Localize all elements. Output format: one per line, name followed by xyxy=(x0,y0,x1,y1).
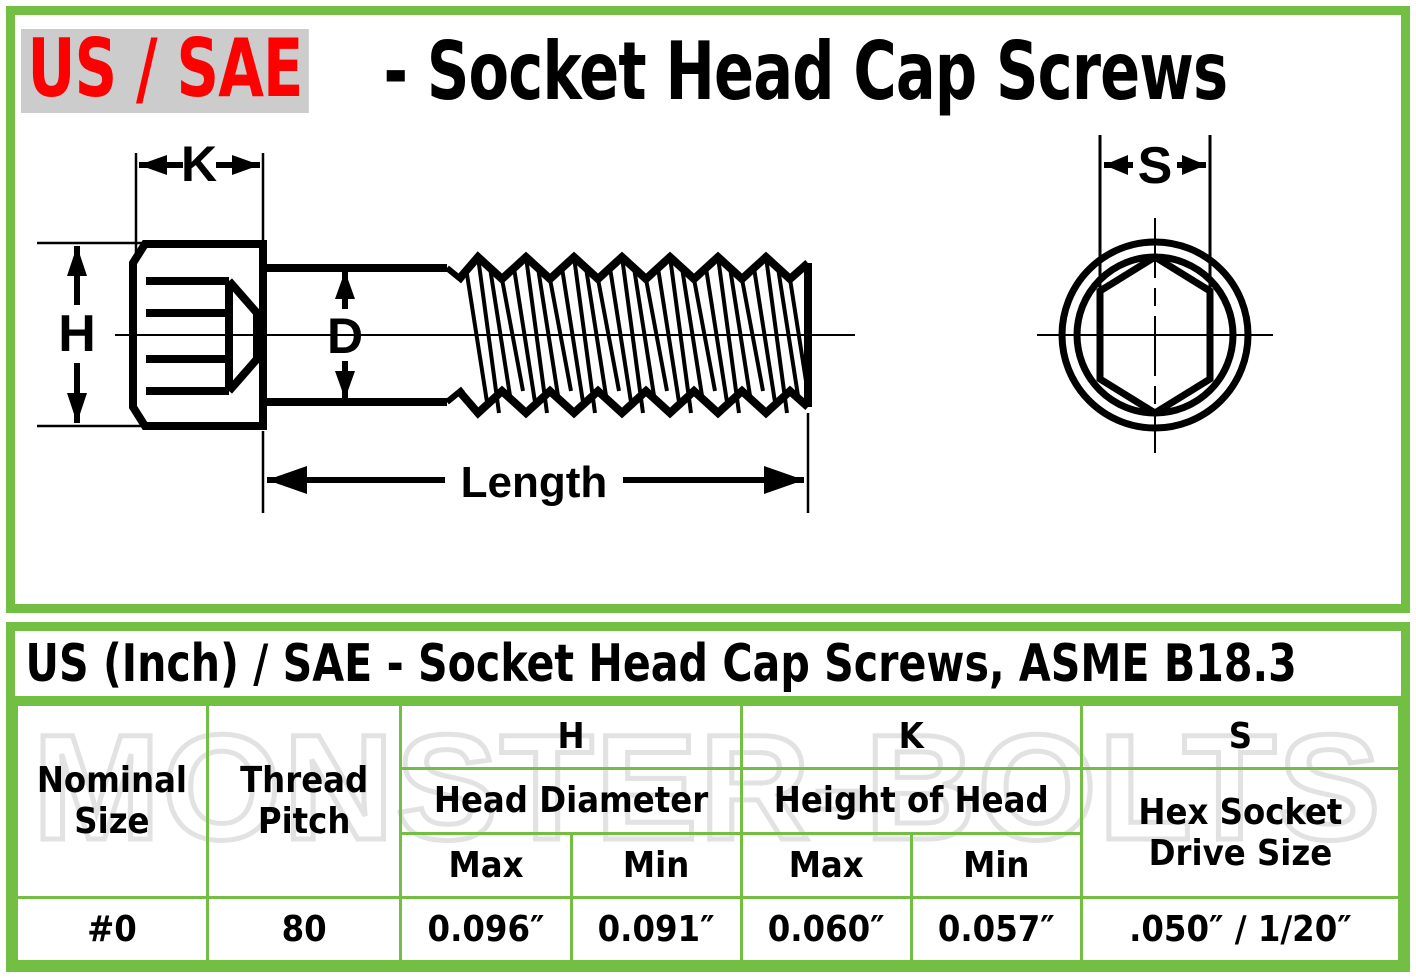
col-header-h-min: Min xyxy=(571,833,741,897)
col-header-nominal-size: Nominal Size xyxy=(17,705,208,898)
cell-head-diameter-max: 0.096″ xyxy=(401,897,571,961)
col-header-thread-pitch: Thread Pitch xyxy=(207,705,401,898)
dim-label-h: H xyxy=(58,305,96,363)
dim-label-s: S xyxy=(1138,137,1173,195)
s-arrow-right xyxy=(1182,155,1206,175)
cell-thread-pitch: 80 xyxy=(207,897,401,961)
cell-height-of-head-max: 0.060″ xyxy=(741,897,911,961)
page-title: US / SAE - Socket Head Cap Screws xyxy=(21,21,1401,121)
cell-height-of-head-min: 0.057″ xyxy=(911,897,1081,961)
spec-table: Nominal Size Thread Pitch H K S xyxy=(15,703,1401,963)
col-header-hex-socket-drive-size: Hex Socket Drive Size xyxy=(1081,769,1399,898)
d-arrow-down xyxy=(335,371,355,399)
k-arrow-right xyxy=(232,155,260,175)
col-header-head-diameter: Head Diameter xyxy=(401,769,741,833)
table-row: #0 80 0.096″ 0.091″ 0.060″ 0.057″ .050″ … xyxy=(17,897,1400,961)
diagram-panel: US / SAE - Socket Head Cap Screws K H xyxy=(6,6,1410,613)
cell-hex-socket-drive-size: .050″ / 1/20″ xyxy=(1081,897,1399,961)
dim-label-k: K xyxy=(181,136,217,192)
cell-nominal-size: #0 xyxy=(17,897,208,961)
dim-label-length: Length xyxy=(461,458,608,507)
cell-head-diameter-min: 0.091″ xyxy=(571,897,741,961)
s-arrow-left xyxy=(1104,155,1128,175)
col-header-height-of-head: Height of Head xyxy=(741,769,1081,833)
spec-table-panel: US (Inch) / SAE - Socket Head Cap Screws… xyxy=(6,622,1410,972)
group-header-h: H xyxy=(401,705,741,769)
group-header-k: K xyxy=(741,705,1081,769)
col-header-h-max: Max xyxy=(401,833,571,897)
group-header-s: S xyxy=(1081,705,1399,769)
col-header-k-max: Max xyxy=(741,833,911,897)
title-highlight: US / SAE xyxy=(21,29,309,113)
page-root: US / SAE - Socket Head Cap Screws K H xyxy=(0,0,1416,978)
length-arrow-left xyxy=(267,466,307,494)
screw-technical-drawing: K H xyxy=(15,113,1401,603)
h-arrow-up xyxy=(67,246,87,276)
d-arrow-up xyxy=(335,271,355,299)
dim-label-d: D xyxy=(327,308,363,364)
length-arrow-right xyxy=(764,466,804,494)
title-rest: - Socket Head Cap Screws xyxy=(372,25,1227,118)
k-arrow-left xyxy=(139,155,167,175)
h-arrow-down xyxy=(67,393,87,423)
col-header-k-min: Min xyxy=(911,833,1081,897)
table-header-row-group: Nominal Size Thread Pitch H K S xyxy=(17,705,1400,769)
table-title: US (Inch) / SAE - Socket Head Cap Screws… xyxy=(15,631,1401,703)
